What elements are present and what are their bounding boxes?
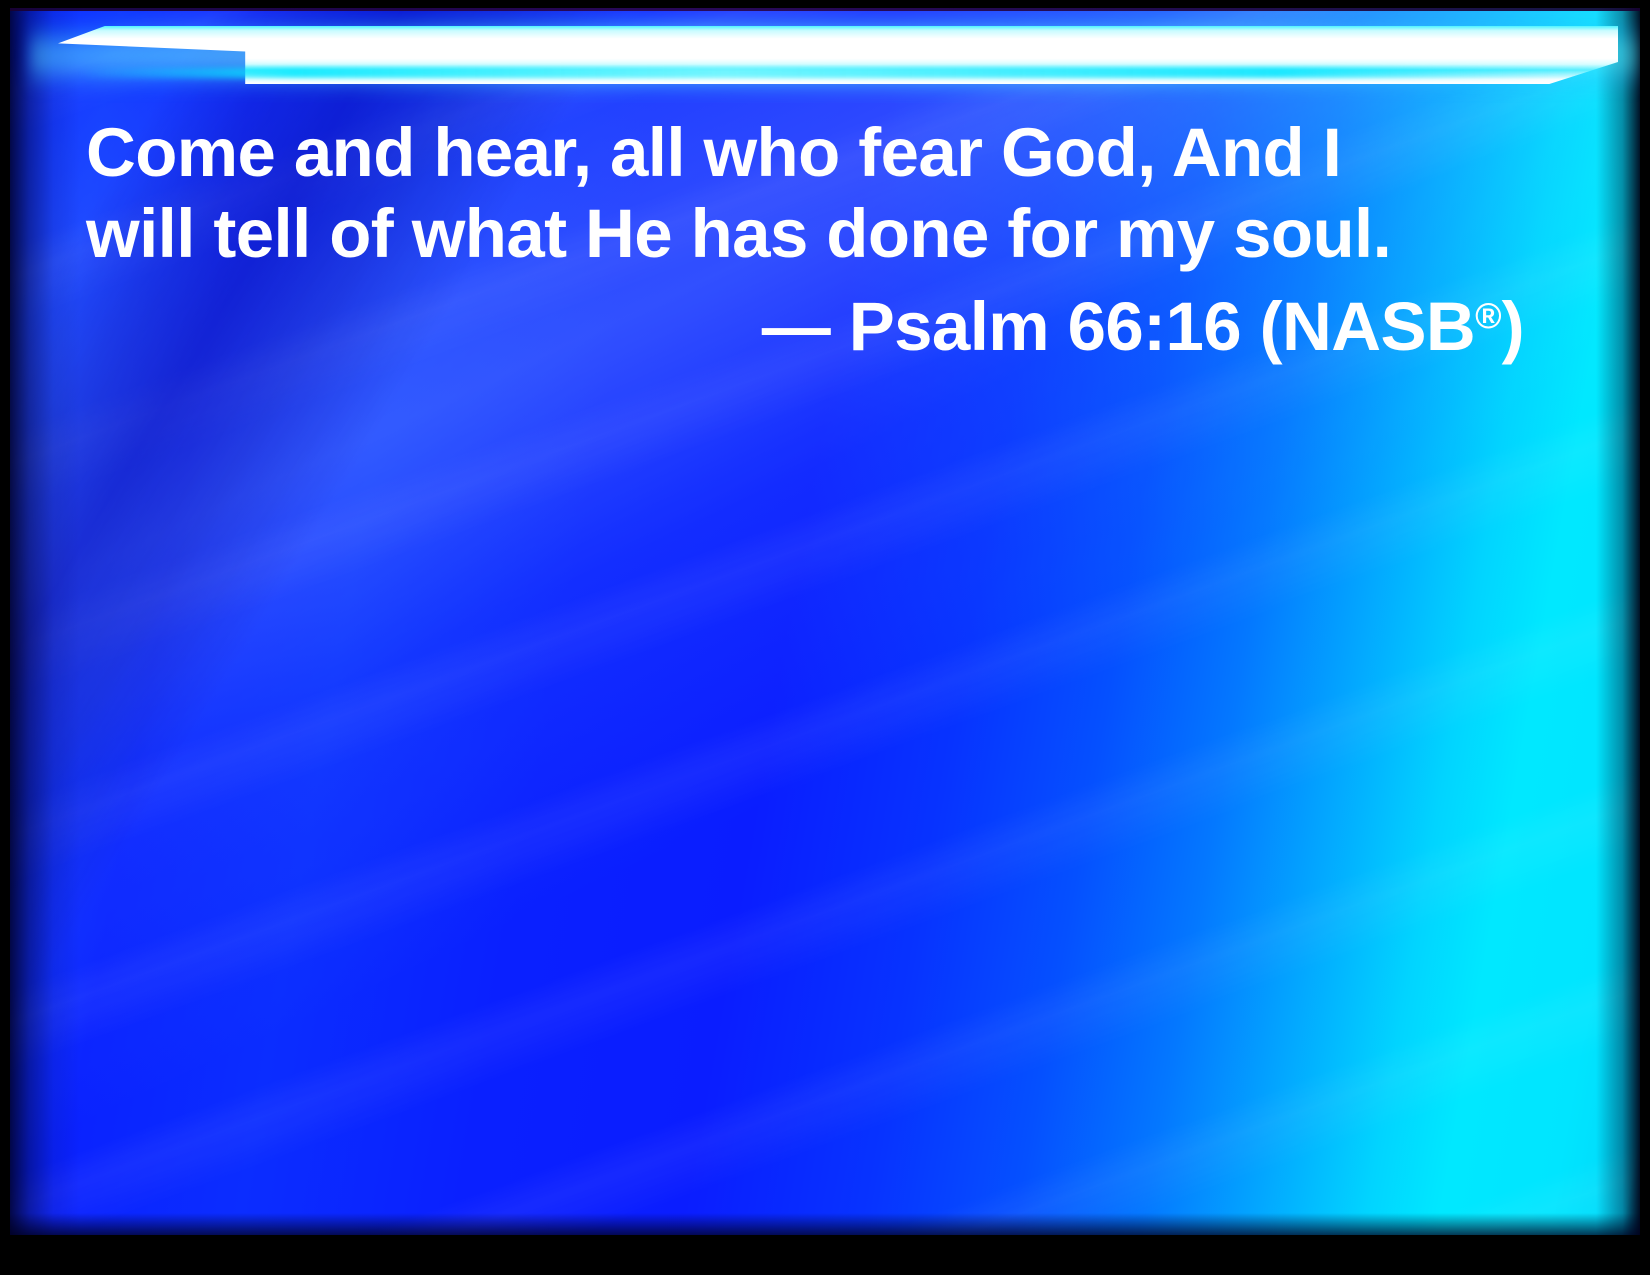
verse-attribution: — Psalm 66:16 (NASB®) bbox=[86, 274, 1546, 369]
attribution-translation: NASB bbox=[1282, 288, 1475, 365]
verse-slide: Come and hear, all who fear God, And I w… bbox=[0, 0, 1650, 1275]
top-light-bar-cyan-streak bbox=[80, 68, 1614, 78]
registered-trademark-icon: ® bbox=[1475, 296, 1501, 336]
edge-shadow-left bbox=[10, 8, 80, 1235]
verse-line-1: Come and hear, all who fear God, And I bbox=[86, 112, 1546, 193]
top-light-bar bbox=[10, 8, 1640, 103]
attribution-close-paren: ) bbox=[1502, 288, 1524, 365]
attribution-em-dash: — bbox=[762, 288, 830, 365]
edge-shadow-bottom bbox=[10, 1213, 1640, 1235]
verse-line-2: will tell of what He has done for my sou… bbox=[86, 193, 1546, 274]
verse-text-block: Come and hear, all who fear God, And I w… bbox=[86, 112, 1546, 369]
edge-shadow-right bbox=[1596, 8, 1640, 1235]
attribution-reference: Psalm 66:16 bbox=[849, 288, 1241, 365]
top-dark-hairline bbox=[10, 8, 1640, 11]
attribution-open-paren: ( bbox=[1260, 288, 1282, 365]
